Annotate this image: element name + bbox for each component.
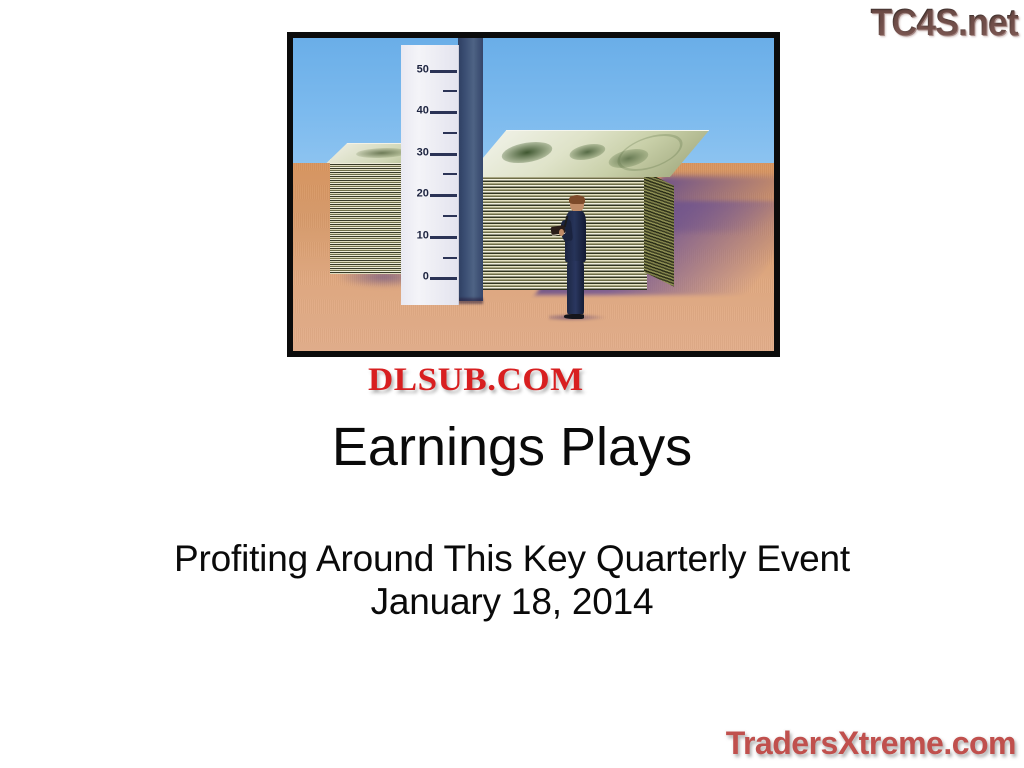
ruler: 50 40 30 20 10 0	[401, 45, 460, 305]
businessman-shoe	[564, 314, 585, 319]
ruler-tick-minor-15	[443, 215, 457, 217]
ruler-label-20: 20	[417, 188, 429, 200]
businessman-hand	[559, 229, 564, 236]
ruler-label-30: 30	[417, 146, 429, 158]
measuring-column	[458, 38, 483, 301]
ruler-tick-major-40	[430, 111, 457, 114]
ruler-label-40: 40	[417, 104, 429, 116]
subtitle-line-2: January 18, 2014	[0, 579, 1024, 625]
bill-portrait-oval	[495, 143, 559, 164]
ruler-tick-minor-5	[443, 257, 457, 259]
ruler-tick-minor-45	[443, 90, 457, 92]
ruler-label-0: 0	[423, 271, 429, 283]
illustration-canvas: 50 40 30 20 10 0	[293, 38, 774, 351]
businessman-hair	[569, 195, 586, 204]
dollar-bill-top-face	[467, 130, 709, 177]
ruler-tick-major-30	[430, 153, 457, 156]
ruler-ticks: 50 40 30 20 10 0	[401, 45, 460, 305]
ruler-tick-major-10	[430, 236, 457, 239]
ruler-label-50: 50	[417, 63, 429, 75]
ruler-tick-minor-25	[443, 173, 457, 175]
bill-seal-oval	[564, 144, 610, 160]
slide-title: Earnings Plays	[0, 420, 1024, 474]
ruler-tick-major-20	[430, 194, 457, 197]
watermark-tradersxtreme: TradersXtreme.com	[726, 725, 1016, 762]
ruler-tick-major-0	[430, 277, 457, 280]
slide-subtitle: Profiting Around This Key Quarterly Even…	[0, 538, 1024, 626]
watermark-tc4s: TC4S.net	[871, 2, 1018, 45]
ruler-tick-major-50	[430, 70, 457, 73]
businessman-legs	[567, 261, 583, 315]
watermark-dlsub: DLSUB.COM	[368, 362, 584, 399]
businessman-figure	[560, 196, 591, 318]
subtitle-line-1: Profiting Around This Key Quarterly Even…	[0, 538, 1024, 579]
money-stack-main-side	[644, 171, 674, 287]
ruler-label-10: 10	[417, 229, 429, 241]
ruler-tick-minor-35	[443, 132, 457, 134]
illustration-frame: 50 40 30 20 10 0	[287, 32, 780, 357]
